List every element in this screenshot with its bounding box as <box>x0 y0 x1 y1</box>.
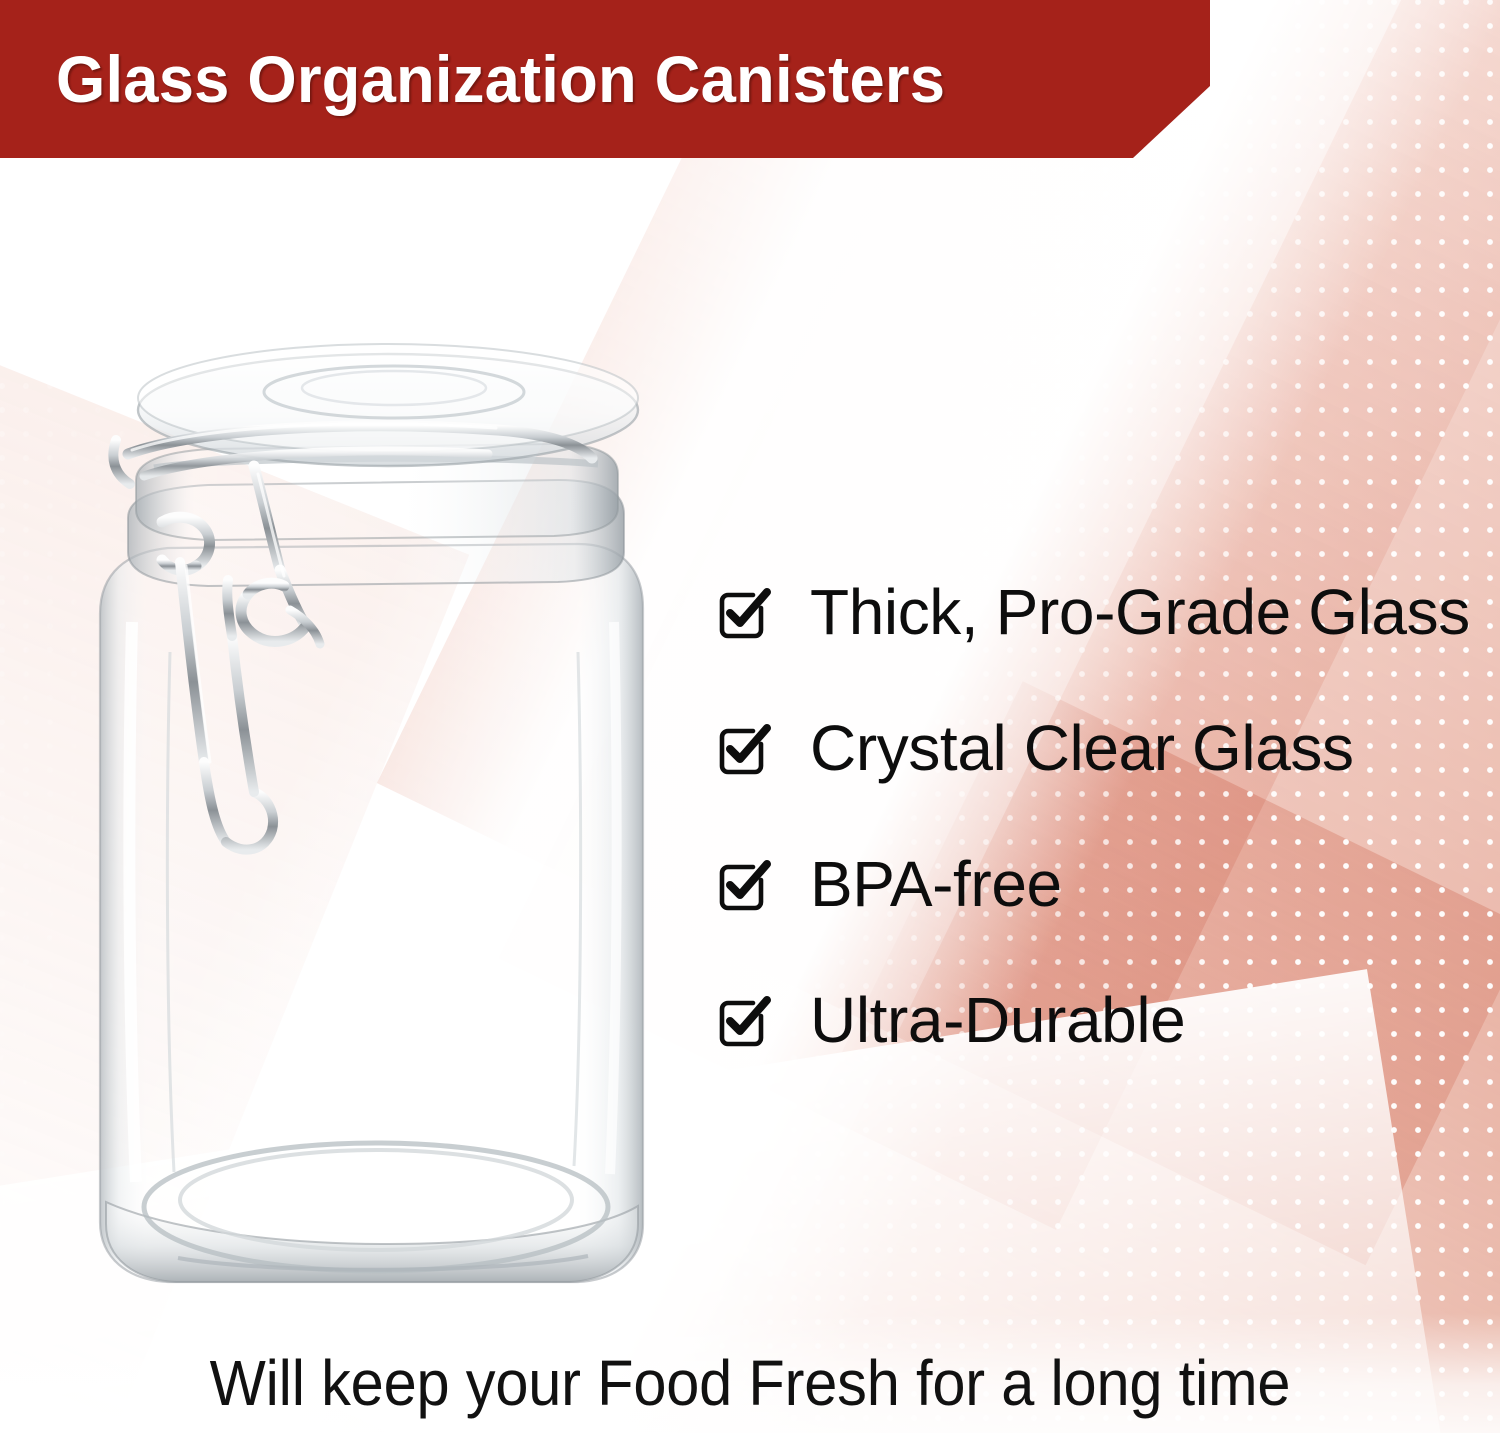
feature-item: Crystal Clear Glass <box>716 680 1476 816</box>
page-title: Glass Organization Canisters <box>56 46 945 112</box>
tagline: Will keep your Food Fresh for a long tim… <box>53 1351 1448 1415</box>
feature-label: Crystal Clear Glass <box>810 716 1354 780</box>
header-banner: Glass Organization Canisters <box>0 0 1210 158</box>
checkbox-checked-icon <box>716 722 772 778</box>
product-image <box>58 222 698 1297</box>
feature-label: BPA-free <box>810 852 1062 916</box>
checkbox-checked-icon <box>716 586 772 642</box>
feature-item: Ultra-Durable <box>716 952 1476 1088</box>
feature-list: Thick, Pro-Grade Glass Crystal Clear Gla… <box>716 544 1476 1088</box>
feature-item: BPA-free <box>716 816 1476 952</box>
feature-item: Thick, Pro-Grade Glass <box>716 544 1476 680</box>
product-infographic: Glass Organization Canisters <box>0 0 1500 1433</box>
checkbox-checked-icon <box>716 858 772 914</box>
checkbox-checked-icon <box>716 994 772 1050</box>
feature-label: Ultra-Durable <box>810 988 1185 1052</box>
glass-jar-illustration <box>58 222 698 1297</box>
feature-label: Thick, Pro-Grade Glass <box>810 580 1470 644</box>
